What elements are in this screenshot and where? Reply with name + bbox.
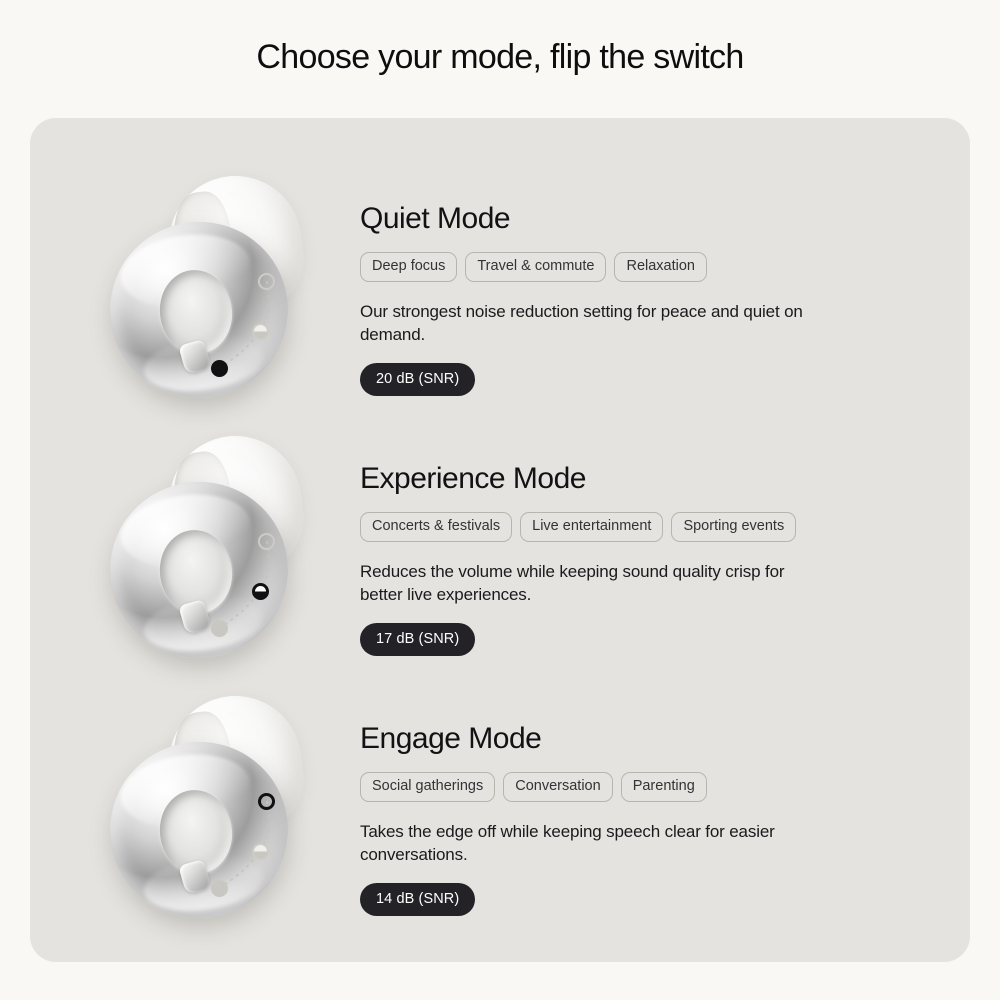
mode-tag[interactable]: Social gatherings	[360, 772, 495, 802]
indicator-dot-1[interactable]	[252, 843, 269, 860]
mode-row[interactable]: Quiet Mode Deep focus Travel & commute R…	[30, 162, 970, 422]
earbud-illustration-engage	[30, 682, 360, 942]
mode-title: Engage Mode	[360, 722, 970, 755]
indicator-dot-2[interactable]	[211, 880, 228, 897]
mode-tag[interactable]: Sporting events	[671, 512, 796, 542]
indicator-dot-0[interactable]	[258, 533, 275, 550]
mode-title: Experience Mode	[360, 462, 970, 495]
indicator-dot-0-active[interactable]	[258, 793, 275, 810]
indicator-dot-1-active[interactable]	[252, 583, 269, 600]
indicator-dot-2-active[interactable]	[211, 360, 228, 377]
mode-tag[interactable]: Concerts & festivals	[360, 512, 512, 542]
mode-comparison-page: Choose your mode, flip the switch	[0, 0, 1000, 1000]
mode-tag-row: Social gatherings Conversation Parenting	[360, 772, 970, 802]
mode-tag[interactable]: Deep focus	[360, 252, 457, 282]
snr-badge: 17 dB (SNR)	[360, 623, 475, 656]
snr-badge: 14 dB (SNR)	[360, 883, 475, 916]
mode-row[interactable]: Experience Mode Concerts & festivals Liv…	[30, 422, 970, 682]
mode-text-block: Experience Mode Concerts & festivals Liv…	[360, 422, 970, 656]
mode-tag-row: Deep focus Travel & commute Relaxation	[360, 252, 970, 282]
mode-description: Our strongest noise reduction setting fo…	[360, 300, 830, 346]
mode-text-block: Quiet Mode Deep focus Travel & commute R…	[360, 162, 970, 396]
mode-tag[interactable]: Live entertainment	[520, 512, 663, 542]
modes-card: Quiet Mode Deep focus Travel & commute R…	[30, 118, 970, 962]
indicator-dot-1[interactable]	[252, 323, 269, 340]
earbud-illustration-quiet	[30, 162, 360, 422]
page-title: Choose your mode, flip the switch	[0, 38, 1000, 77]
earbud-illustration-experience	[30, 422, 360, 682]
mode-tag[interactable]: Parenting	[621, 772, 707, 802]
snr-badge: 20 dB (SNR)	[360, 363, 475, 396]
mode-tag-row: Concerts & festivals Live entertainment …	[360, 512, 970, 542]
mode-indicator-path	[210, 792, 290, 912]
indicator-dot-0[interactable]	[258, 273, 275, 290]
mode-indicator-path	[210, 272, 290, 392]
mode-row[interactable]: Engage Mode Social gatherings Conversati…	[30, 682, 970, 942]
mode-description: Reduces the volume while keeping sound q…	[360, 560, 830, 606]
indicator-dot-2[interactable]	[211, 620, 228, 637]
mode-tag[interactable]: Relaxation	[614, 252, 707, 282]
mode-indicator-path	[210, 532, 290, 652]
mode-tag[interactable]: Conversation	[503, 772, 612, 802]
mode-description: Takes the edge off while keeping speech …	[360, 820, 830, 866]
mode-title: Quiet Mode	[360, 202, 970, 235]
mode-text-block: Engage Mode Social gatherings Conversati…	[360, 682, 970, 916]
mode-tag[interactable]: Travel & commute	[465, 252, 606, 282]
